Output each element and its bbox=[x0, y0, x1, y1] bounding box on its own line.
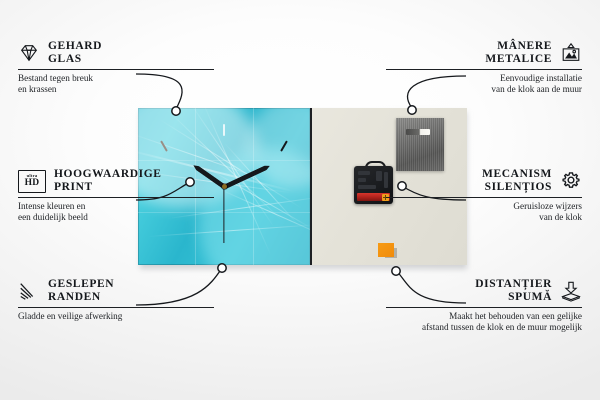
callout-distantier-spuma: DISTANȚIER SPUMĂ Maakt het behouden van … bbox=[386, 278, 582, 333]
callout-title-line2: METALICE bbox=[485, 53, 552, 66]
callout-divider bbox=[386, 69, 582, 70]
callout-divider bbox=[386, 307, 582, 308]
ultra-hd-icon: ultra HD bbox=[18, 170, 46, 193]
hanger-slot bbox=[406, 129, 430, 135]
clock-tick-12 bbox=[223, 124, 225, 136]
mechanism-detail bbox=[358, 185, 376, 189]
callout-divider bbox=[18, 69, 214, 70]
callout-subtitle-line1: Gladde en veilige afwerking bbox=[18, 311, 214, 322]
callout-subtitle-line2: en krassen bbox=[18, 84, 214, 95]
callout-hoogwaardige-print: ultra HD HOOGWAARDIGE PRINT Intense kleu… bbox=[18, 168, 214, 223]
mechanism-detail bbox=[358, 178, 366, 182]
callout-subtitle-line1: Maakt het behouden van een gelijke bbox=[386, 311, 582, 322]
foam-spacer bbox=[378, 243, 394, 257]
callout-divider bbox=[18, 307, 214, 308]
mechanism-detail bbox=[376, 171, 382, 181]
callout-title-line2: SILENȚIOS bbox=[482, 181, 552, 194]
callout-title-line1: MÂNERE bbox=[485, 40, 552, 53]
callout-title-line1: MECANISM bbox=[482, 168, 552, 181]
callout-subtitle-line2: afstand tussen de klok en de muur mogeli… bbox=[386, 322, 582, 333]
callout-geslepen-randen: GESLEPEN RANDEN Gladde en veilige afwerk… bbox=[18, 278, 214, 322]
callout-title-line2: RANDEN bbox=[48, 291, 114, 304]
ground-edges-icon bbox=[18, 280, 40, 302]
callout-subtitle-line1: Intense kleuren en bbox=[18, 201, 214, 212]
glass-plate-seam bbox=[253, 108, 254, 265]
glass-plate-seam bbox=[138, 160, 310, 161]
callout-subtitle-line1: Geruisloze wijzers bbox=[386, 201, 582, 212]
ultra-hd-icon-main-text: HD bbox=[25, 179, 40, 189]
callout-title-line2: SPUMĂ bbox=[475, 291, 552, 304]
metal-hanger-plate bbox=[396, 118, 444, 171]
callout-subtitle-line2: van de klok bbox=[386, 212, 582, 223]
callout-subtitle-line1: Eenvoudige installatie bbox=[386, 73, 582, 84]
callout-subtitle-line2: een duidelijk beeld bbox=[18, 212, 214, 223]
hanging-picture-frame-icon bbox=[560, 42, 582, 64]
callout-divider bbox=[386, 197, 582, 198]
callout-manere-metalice: MÂNERE METALICE Eenvoudige installatie v… bbox=[386, 40, 582, 95]
callout-title-line1: DISTANȚIER bbox=[475, 278, 552, 291]
mechanism-detail bbox=[358, 171, 370, 175]
callout-subtitle-line2: van de klok aan de muur bbox=[386, 84, 582, 95]
callout-title-line1: HOOGWAARDIGE bbox=[54, 168, 162, 181]
callout-gehard-glas: GEHARD GLAS Bestand tegen breuk en krass… bbox=[18, 40, 214, 95]
callout-mecanism-silentios: MECANISM SILENȚIOS Geruisloze wijzers va… bbox=[386, 168, 582, 223]
callout-divider bbox=[18, 197, 214, 198]
infographic-canvas: GEHARD GLAS Bestand tegen breuk en krass… bbox=[0, 0, 600, 400]
clock-center-cap bbox=[222, 184, 227, 189]
gear-icon bbox=[560, 170, 582, 192]
diamond-icon bbox=[18, 42, 40, 64]
callout-subtitle-line1: Bestand tegen breuk bbox=[18, 73, 214, 84]
callout-title-line1: GESLEPEN bbox=[48, 278, 114, 291]
arrow-into-layers-icon bbox=[560, 280, 582, 302]
callout-title-line2: GLAS bbox=[48, 53, 102, 66]
callout-title-line2: PRINT bbox=[54, 181, 162, 194]
callout-title-line1: GEHARD bbox=[48, 40, 102, 53]
